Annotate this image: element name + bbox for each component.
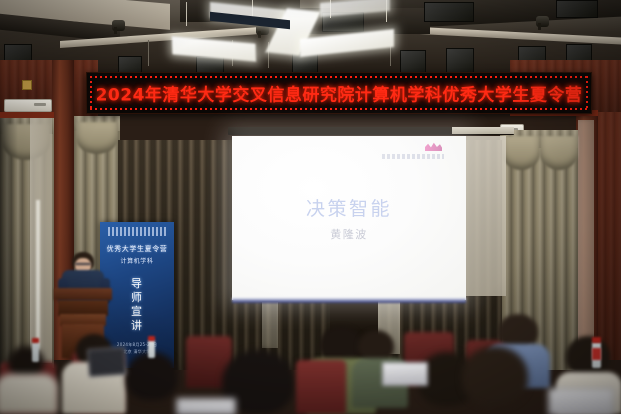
logo-mark bbox=[425, 142, 442, 151]
rollup-logo bbox=[108, 227, 166, 236]
audience-head-right-2 bbox=[462, 346, 528, 406]
audience-head-right-3 bbox=[566, 336, 610, 376]
podium-top bbox=[54, 288, 112, 300]
light-rod-1 bbox=[186, 2, 187, 26]
water-bottle-label-right bbox=[592, 348, 601, 360]
speaker-glasses bbox=[75, 263, 91, 265]
audience-body-left-2 bbox=[0, 374, 58, 414]
screen-casing-right bbox=[452, 127, 514, 134]
wall-pillar-right bbox=[578, 120, 594, 360]
water-bottle-cap-left bbox=[32, 338, 39, 343]
laptop-front[interactable] bbox=[176, 398, 236, 414]
audience-head-right-blue bbox=[498, 314, 538, 348]
water-bottle-cap-podium bbox=[148, 336, 155, 341]
screen-side-panel bbox=[466, 136, 506, 296]
rollup-headline-4: 讲 bbox=[100, 320, 174, 331]
projection-screen: 决策智能 黄隆波 bbox=[232, 136, 466, 300]
spotlight-2 bbox=[536, 16, 549, 27]
rollup-line1: 优秀大学生夏令营 bbox=[100, 244, 174, 254]
audience-head-left-3 bbox=[126, 352, 178, 400]
ceiling-speaker-10 bbox=[424, 2, 474, 22]
laptop-right[interactable] bbox=[548, 388, 614, 414]
wall-plaque bbox=[22, 80, 32, 90]
water-bottle-cap-right bbox=[592, 337, 601, 343]
screen-bottom-edge bbox=[232, 298, 466, 303]
laptop-center[interactable] bbox=[382, 362, 428, 386]
curtain-swag-right-b bbox=[540, 136, 578, 170]
lecture-hall-photo: 2024年清华大学交叉信息研究院计算机学科优秀大学生夏令营 决策智能 黄隆波 优… bbox=[0, 0, 621, 414]
water-bottle-podium bbox=[148, 340, 155, 358]
curtain-shadow-left bbox=[0, 118, 18, 368]
rollup-headline-3: 宣 bbox=[100, 306, 174, 317]
laptop-left[interactable] bbox=[87, 347, 127, 378]
ceiling-speaker-6 bbox=[446, 48, 474, 74]
curtain-swag-left2 bbox=[76, 122, 118, 154]
wall-light-tube bbox=[36, 200, 40, 350]
institute-logo bbox=[380, 142, 442, 162]
air-conditioner bbox=[4, 99, 52, 112]
led-banner: 2024年清华大学交叉信息研究院计算机学科优秀大学生夏令营 bbox=[86, 72, 592, 114]
chair-front-center bbox=[296, 360, 346, 414]
water-bottle-left bbox=[32, 342, 39, 362]
audience-head-center-1 bbox=[320, 326, 362, 362]
stage-backdrop-light-2 bbox=[262, 302, 278, 348]
wall-pillar-left bbox=[30, 118, 52, 363]
slide-title: 决策智能 bbox=[232, 194, 466, 221]
led-banner-text: 2024年清华大学交叉信息研究院计算机学科优秀大学生夏令营 bbox=[87, 81, 591, 106]
ceiling-speaker-11 bbox=[556, 0, 598, 18]
spotlight-1 bbox=[112, 20, 125, 31]
slide-subtitle: 黄隆波 bbox=[232, 226, 466, 242]
logo-text bbox=[382, 154, 444, 159]
curtain-swag-right-a bbox=[502, 136, 540, 170]
rollup-line2: 计算机学科 bbox=[100, 256, 174, 265]
light-rod-5 bbox=[148, 40, 149, 66]
